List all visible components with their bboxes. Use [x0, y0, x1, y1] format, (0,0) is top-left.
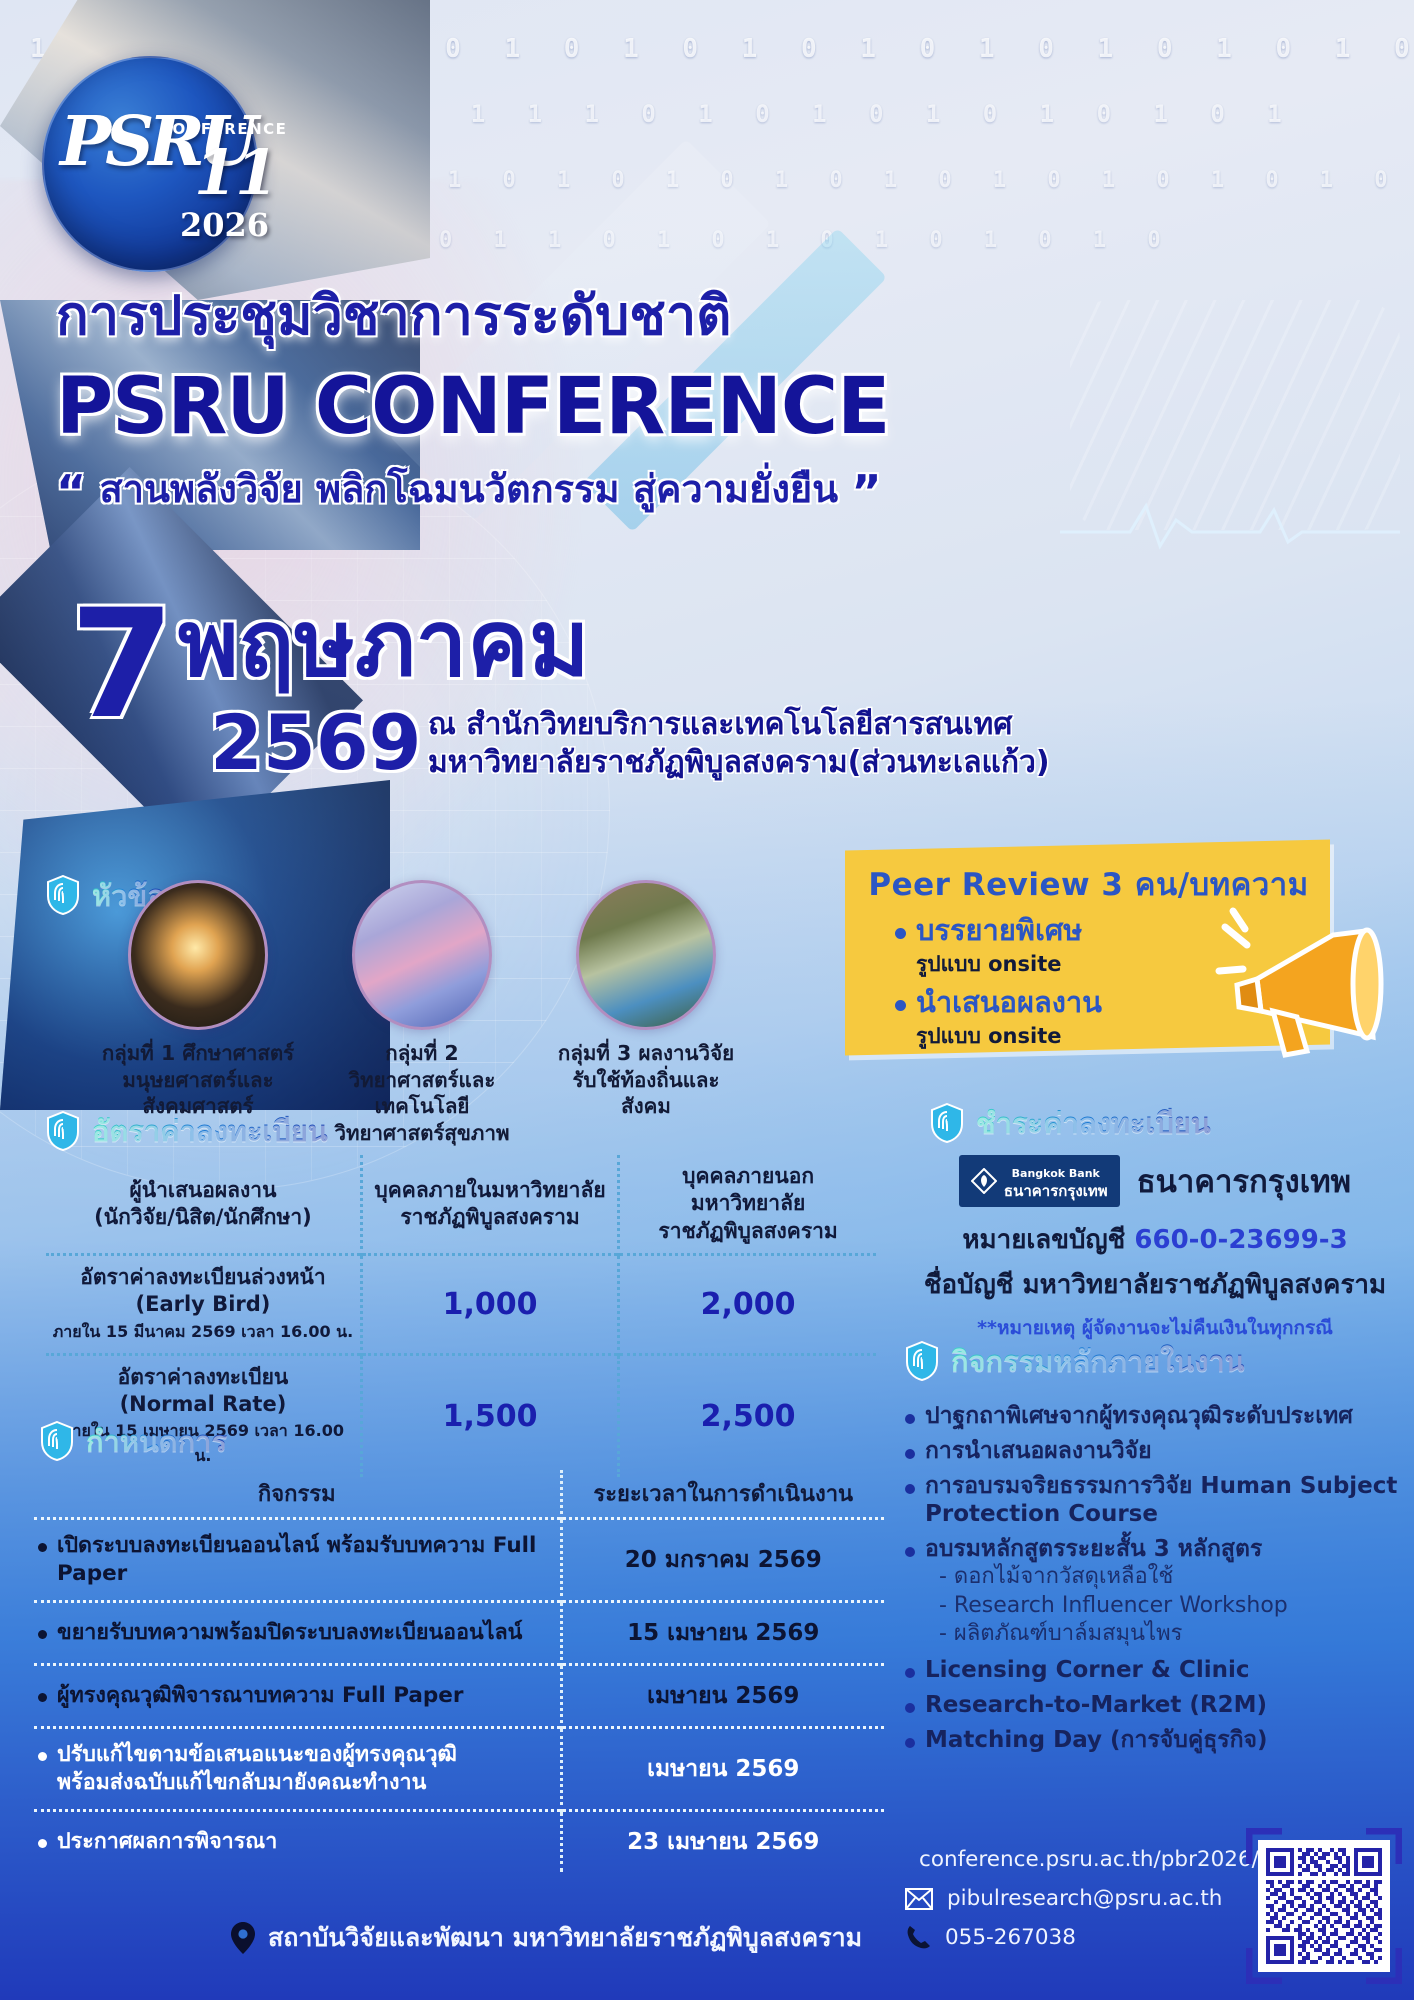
fee-header-row: ผู้นำเสนอผลงาน (นักวิจัย/นิสิต/นักศึกษา)…: [46, 1155, 876, 1254]
topic-group-1: กลุ่มที่ 1 ศึกษาศาสตร์ มนุษยศาสตร์และสัง…: [100, 880, 296, 1147]
bullet-dot-icon: [38, 1630, 47, 1639]
venue-line-1: ณ สำนักวิทยบริการและเทคโนโลยีสารสนเทศ: [428, 706, 1050, 744]
topic-3-line1: กลุ่มที่ 3 ผลงานวิจัย: [548, 1040, 744, 1067]
schedule-row-1-activity-cell: เปิดระบบลงทะเบียนออนไลน์ พร้อมรับบทความ …: [34, 1519, 561, 1602]
schedule-row-5-activity: ประกาศผลการพิจารณา: [57, 1828, 277, 1856]
schedule-row: ประกาศผลการพิจารณา 23 เมษายน 2569: [34, 1810, 884, 1872]
payment-block: Bangkok Bank ธนาคารกรุงเทพ ธนาคารกรุงเทพ…: [905, 1155, 1405, 1343]
fee-col-3-line1: บุคคลภายนอกมหาวิทยาลัย: [626, 1163, 870, 1218]
schedule-row-2-activity: ขยายรับบทความพร้อมปิดระบบลงทะเบียนออนไลน…: [57, 1619, 522, 1647]
activities-heading-label: กิจกรรมหลักภายในงาน: [951, 1338, 1244, 1384]
contact-email: pibulresearch@psru.ac.th: [947, 1886, 1222, 1911]
bullet-dot-icon: [38, 1839, 47, 1848]
bullet-dot-icon: [38, 1693, 47, 1702]
shield-fingerprint-icon: [46, 1111, 80, 1151]
activity-4-sub-1: - ดอกไม้จากวัสดุเหลือใช้: [939, 1563, 1410, 1592]
fee-row-1-label: อัตราค่าลงทะเบียนล่วงหน้า (Early Bird) ภ…: [46, 1254, 361, 1354]
event-year: 2569: [210, 705, 422, 781]
fee-row-2-external: 2,500: [619, 1354, 876, 1477]
dna-helix-photo-icon: [352, 880, 492, 1030]
account-name-row: ชื่อบัญชี มหาวิทยาลัยราชภัฏพิบูลสงคราม: [905, 1264, 1405, 1305]
fees-heading-label: อัตราค่าลงทะเบียน: [92, 1108, 328, 1154]
activities-list: ปาฐกถาพิเศษจากผู้ทรงคุณวุฒิระดับประเทศ ก…: [905, 1395, 1410, 1754]
fee-row-2-line1: อัตราค่าลงทะเบียน: [52, 1364, 354, 1391]
bullet-dot-icon: [905, 1547, 915, 1557]
conference-poster: 1 0 1 0 1 0 1 0 1 0 1 0 1 0 1 0 1 0 1 0 …: [0, 0, 1414, 2000]
venue-line-2: มหาวิทยาลัยราชภัฏพิบูลสงคราม(ส่วนทะเลแก้…: [428, 744, 1050, 782]
schedule-row-5-date: 23 เมษายน 2569: [561, 1810, 884, 1872]
fee-row-1-note: ภายใน 15 มีนาคม 2569 เวลา 16.00 น.: [52, 1320, 354, 1345]
schedule-row: ผู้ทรงคุณวุฒิพิจารณาบทความ Full Paper เม…: [34, 1664, 884, 1727]
activity-item: Matching Day (การจับคู่ธุรกิจ): [905, 1726, 1410, 1754]
event-day: 7: [70, 590, 174, 740]
topic-2-line1: กลุ่มที่ 2: [324, 1040, 520, 1067]
logo-year-text: 2026: [180, 206, 269, 244]
schedule-row-4-activity-2: พร้อมส่งฉบับแก้ไขกลับมายังคณะทำงาน: [57, 1770, 426, 1795]
bank-logo-en: Bangkok Bank: [1012, 1167, 1100, 1180]
bangkok-bank-logo: Bangkok Bank ธนาคารกรุงเทพ: [959, 1155, 1120, 1207]
shield-fingerprint-icon: [905, 1341, 939, 1381]
schedule-row-4-activity-cell: ปรับแก้ไขตามข้อเสนอแนะของผู้ทรงคุณวุฒิ พ…: [34, 1727, 561, 1810]
fee-col-3-header: บุคคลภายนอกมหาวิทยาลัย ราชภัฏพิบูลสงคราม: [619, 1155, 876, 1254]
bank-name: ธนาคารกรุงเทพ: [1137, 1164, 1351, 1200]
schedule-row-5-activity-cell: ประกาศผลการพิจารณา: [34, 1810, 561, 1872]
fee-col-2-line1: บุคคลภายในมหาวิทยาลัย: [369, 1177, 611, 1204]
quote-open: “: [56, 465, 86, 519]
topic-1-line1: กลุ่มที่ 1 ศึกษาศาสตร์: [100, 1040, 296, 1067]
activities-heading: กิจกรรมหลักภายในงาน: [905, 1338, 1244, 1384]
account-number-label: หมายเลขบัญชี: [962, 1225, 1125, 1255]
schedule-table: กิจกรรม ระยะเวลาในการดำเนินงาน เปิดระบบล…: [34, 1470, 884, 1872]
event-month: พฤษภาคม: [178, 598, 589, 690]
activity-7-text: Matching Day (การจับคู่ธุรกิจ): [925, 1726, 1268, 1754]
topic-3-line2: รับใช้ท้องถิ่นและสังคม: [548, 1067, 744, 1120]
bangkok-bank-diamond-icon: [971, 1168, 997, 1194]
schedule-row-4-activity: ปรับแก้ไขตามข้อเสนอแนะของผู้ทรงคุณวุฒิ: [57, 1742, 457, 1767]
quote-close: ”: [851, 465, 881, 519]
fee-col-1-line2: (นักวิจัย/นิสิต/นักศึกษา): [52, 1204, 354, 1231]
bullet-dot-icon: [905, 1484, 915, 1494]
bullet-dot-icon: [905, 1738, 915, 1748]
activity-6-text: Research-to-Market (R2M): [925, 1691, 1267, 1719]
activity-3-text: การอบรมจริยธรรมการวิจัย Human Subject Pr…: [925, 1472, 1410, 1528]
schedule-row: ขยายรับบทความพร้อมปิดระบบลงทะเบียนออนไลน…: [34, 1601, 884, 1664]
fee-row-1-external: 2,000: [619, 1254, 876, 1354]
activity-item: การอบรมจริยธรรมการวิจัย Human Subject Pr…: [905, 1472, 1410, 1528]
bullet-dot-icon: [895, 928, 906, 939]
bullet-dot-icon: [905, 1449, 915, 1459]
activity-2-text: การนำเสนอผลงานวิจัย: [925, 1437, 1152, 1465]
activity-item: การนำเสนอผลงานวิจัย: [905, 1437, 1410, 1465]
fee-row-early-bird: อัตราค่าลงทะเบียนล่วงหน้า (Early Bird) ภ…: [46, 1254, 876, 1354]
schedule-row-3-date: เมษายน 2569: [561, 1664, 884, 1727]
topic-2-line2: วิทยาศาสตร์และเทคโนโลยี: [324, 1067, 520, 1120]
shield-fingerprint-icon: [40, 1421, 74, 1461]
psru-conference-logo: PSRU CONFERENCE 11 2026: [42, 56, 258, 272]
bank-logo-th: ธนาคารกรุงเทพ: [1004, 1182, 1108, 1200]
headline-slogan-row: “ สานพลังวิจัย พลิกโฉมนวัตกรรม สู่ความยั…: [56, 458, 1116, 519]
fees-heading: อัตราค่าลงทะเบียน: [46, 1108, 328, 1154]
bullet-dot-icon: [905, 1668, 915, 1678]
topic-group-3: กลุ่มที่ 3 ผลงานวิจัย รับใช้ท้องถิ่นและส…: [548, 880, 744, 1147]
fee-col-2-header: บุคคลภายในมหาวิทยาลัย ราชภัฏพิบูลสงคราม: [361, 1155, 618, 1254]
schedule-row: เปิดระบบลงทะเบียนออนไลน์ พร้อมรับบทความ …: [34, 1519, 884, 1602]
payment-heading-label: ชำระค่าลงทะเบียน: [976, 1100, 1211, 1146]
footer-organizer-text: สถาบันวิจัยและพัฒนา มหาวิทยาลัยราชภัฏพิบ…: [268, 1918, 862, 1958]
activity-5-text: Licensing Corner & Clinic: [925, 1656, 1250, 1684]
bullet-dot-icon: [895, 1000, 906, 1011]
headline-thai-line: การประชุมวิชาการระดับชาติ: [56, 272, 1116, 358]
bullet-dot-icon: [905, 1703, 915, 1713]
schedule-col-period-header: ระยะเวลาในการดำเนินงาน: [561, 1470, 884, 1519]
schedule-row-3-activity: ผู้ทรงคุณวุฒิพิจารณาบทความ Full Paper: [57, 1682, 463, 1710]
phone-icon: [905, 1924, 931, 1950]
activity-1-text: ปาฐกถาพิเศษจากผู้ทรงคุณวุฒิระดับประเทศ: [925, 1402, 1353, 1430]
bullet-dot-icon: [38, 1752, 47, 1761]
contact-block: conference.psru.ac.th/pbr2026/ pibulrese…: [905, 1845, 1235, 1963]
topic-2-line3: วิทยาศาสตร์สุขภาพ: [324, 1120, 520, 1147]
activity-item: Licensing Corner & Clinic: [905, 1656, 1410, 1684]
schedule-row: ปรับแก้ไขตามข้อเสนอแนะของผู้ทรงคุณวุฒิ พ…: [34, 1727, 884, 1810]
contact-phone: 055-267038: [945, 1925, 1076, 1950]
schedule-heading: กำหนดการ: [40, 1418, 227, 1464]
qr-code[interactable]: [1258, 1840, 1390, 1972]
fee-row-2-internal: 1,500: [361, 1354, 618, 1477]
account-name-value: มหาวิทยาลัยราชภัฏพิบูลสงคราม: [1022, 1270, 1386, 1300]
activity-item: Research-to-Market (R2M): [905, 1691, 1410, 1719]
activity-4-sub-3: - ผลิตภัณฑ์บาล์มสมุนไพร: [939, 1620, 1410, 1649]
shield-fingerprint-icon: [930, 1103, 964, 1143]
contact-phone-row[interactable]: 055-267038: [905, 1924, 1235, 1950]
peer-item-1-note: รูปแบบ onsite: [916, 948, 1082, 981]
fee-col-2-line2: ราชภัฏพิบูลสงคราม: [369, 1204, 611, 1231]
activity-4-text: อบรมหลักสูตรระยะสั้น 3 หลักสูตร: [925, 1535, 1262, 1563]
bank-row: Bangkok Bank ธนาคารกรุงเทพ ธนาคารกรุงเทพ: [905, 1155, 1405, 1207]
fee-col-1-line1: ผู้นำเสนอผลงาน: [52, 1177, 354, 1204]
bullet-dot-icon: [905, 1414, 915, 1424]
topics-list: กลุ่มที่ 1 ศึกษาศาสตร์ มนุษยศาสตร์และสัง…: [100, 880, 780, 1147]
schedule-heading-label: กำหนดการ: [86, 1418, 227, 1464]
payment-heading: ชำระค่าลงทะเบียน: [930, 1100, 1211, 1146]
logo-edition-number: 11: [194, 136, 276, 209]
envelope-icon: [905, 1888, 933, 1910]
headline-slogan: สานพลังวิจัย พลิกโฉมนวัตกรรม สู่ความยั่ง…: [99, 467, 838, 511]
schedule-row-1-date: 20 มกราคม 2569: [561, 1519, 884, 1602]
peer-item-2-note: รูปแบบ onsite: [916, 1020, 1102, 1053]
peer-item-1-main: บรรยายพิเศษ: [916, 915, 1082, 947]
peer-review-title: Peer Review 3 คน/บทความ: [867, 859, 1310, 909]
schedule-table-wrap: กิจกรรม ระยะเวลาในการดำเนินงาน เปิดระบบล…: [34, 1470, 884, 1872]
location-pin-icon: [230, 1921, 256, 1955]
topic-group-2: กลุ่มที่ 2 วิทยาศาสตร์และเทคโนโลยี วิทยา…: [324, 880, 520, 1147]
lightbulb-book-photo-icon: [128, 880, 268, 1030]
contact-email-row[interactable]: pibulresearch@psru.ac.th: [905, 1886, 1235, 1911]
schedule-row-4-date: เมษายน 2569: [561, 1727, 884, 1810]
schedule-header-row: กิจกรรม ระยะเวลาในการดำเนินงาน: [34, 1470, 884, 1519]
account-name-label: ชื่อบัญชี: [924, 1270, 1014, 1300]
peer-item-2-main: นำเสนอผลงาน: [916, 987, 1102, 1019]
contact-website-row[interactable]: conference.psru.ac.th/pbr2026/: [905, 1845, 1235, 1873]
activity-item: ปาฐกถาพิเศษจากผู้ทรงคุณวุฒิระดับประเทศ: [905, 1402, 1410, 1430]
schedule-row-3-activity-cell: ผู้ทรงคุณวุฒิพิจารณาบทความ Full Paper: [34, 1664, 561, 1727]
fee-row-1-line1: อัตราค่าลงทะเบียนล่วงหน้า: [52, 1264, 354, 1291]
footer-organizer: สถาบันวิจัยและพัฒนา มหาวิทยาลัยราชภัฏพิบ…: [230, 1918, 862, 1958]
bullet-dot-icon: [38, 1543, 47, 1552]
shield-fingerprint-icon: [46, 875, 80, 915]
event-venue: ณ สำนักวิทยบริการและเทคโนโลยีสารสนเทศ มห…: [428, 706, 1050, 783]
megaphone-icon: [1215, 905, 1414, 1085]
fee-row-1-internal: 1,000: [361, 1254, 618, 1354]
headline-block: การประชุมวิชาการระดับชาติ PSRU CONFERENC…: [56, 272, 1116, 519]
headline-main-title: PSRU CONFERENCE: [56, 362, 1116, 452]
activity-item: อบรมหลักสูตรระยะสั้น 3 หลักสูตร: [905, 1535, 1410, 1563]
schedule-row-2-date: 15 เมษายน 2569: [561, 1601, 884, 1664]
fee-row-2-line2: (Normal Rate): [52, 1391, 354, 1418]
field-sampling-photo-icon: [576, 880, 716, 1030]
qr-code-image: [1266, 1848, 1382, 1964]
fee-col-1-header: ผู้นำเสนอผลงาน (นักวิจัย/นิสิต/นักศึกษา): [46, 1155, 361, 1254]
fee-row-1-line2: (Early Bird): [52, 1291, 354, 1318]
account-number-row: หมายเลขบัญชี 660-0-23699-3: [905, 1219, 1405, 1260]
activity-4-sub-2: - Research Influencer Workshop: [939, 1592, 1410, 1621]
schedule-col-activity-header: กิจกรรม: [34, 1470, 561, 1519]
fee-col-3-line2: ราชภัฏพิบูลสงคราม: [626, 1218, 870, 1245]
account-number-value: 660-0-23699-3: [1134, 1225, 1347, 1255]
binary-decoration-row-2: 1 1 1 1 1 1 0 1 0 1 0 1 0 1 0 1 0 1: [300, 100, 1296, 128]
schedule-row-1-activity: เปิดระบบลงทะเบียนออนไลน์ พร้อมรับบทความ …: [57, 1532, 556, 1588]
contact-website: conference.psru.ac.th/pbr2026/: [919, 1847, 1259, 1872]
schedule-row-2-activity-cell: ขยายรับบทความพร้อมปิดระบบลงทะเบียนออนไลน…: [34, 1601, 561, 1664]
